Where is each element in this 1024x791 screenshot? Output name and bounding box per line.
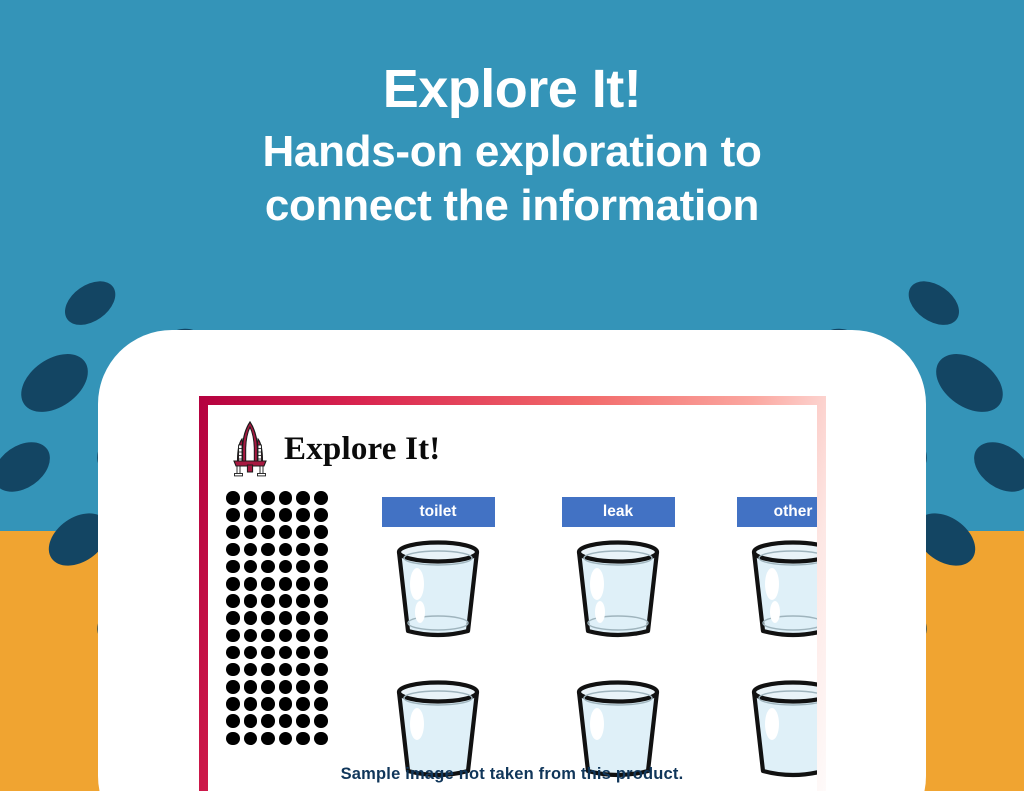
grid-dot xyxy=(296,629,310,643)
grid-dot xyxy=(244,508,258,522)
grid-dot xyxy=(314,663,328,677)
grid-dot xyxy=(244,714,258,728)
grid-dot xyxy=(279,714,293,728)
dot-grid xyxy=(226,491,338,791)
page-subtitle-line-1: Hands-on exploration to xyxy=(0,125,1024,179)
grid-dot xyxy=(279,646,293,660)
grid-dot xyxy=(226,663,240,677)
grid-dot xyxy=(279,525,293,539)
grid-dot xyxy=(261,714,275,728)
grid-dot xyxy=(314,629,328,643)
grid-dot xyxy=(261,732,275,746)
grid-dot xyxy=(314,594,328,608)
page-title: Explore It! xyxy=(0,62,1024,117)
grid-dot xyxy=(226,697,240,711)
worksheet-column-toilet: toilet xyxy=(353,497,523,779)
grid-dot xyxy=(314,680,328,694)
cup-row-2 xyxy=(353,679,523,779)
grid-dot xyxy=(279,732,293,746)
worksheet-column-other: other xyxy=(708,497,817,779)
disclaimer-caption: Sample image not taken from this product… xyxy=(0,765,1024,784)
grid-dot xyxy=(226,646,240,660)
grid-dot xyxy=(296,594,310,608)
grid-dot xyxy=(226,508,240,522)
grid-dot xyxy=(226,525,240,539)
grid-dot xyxy=(296,508,310,522)
cup-icon xyxy=(390,539,486,639)
grid-dot xyxy=(244,680,258,694)
grid-dot xyxy=(279,663,293,677)
cup-icon xyxy=(745,679,817,779)
worksheet-page: Explore It! toilet xyxy=(208,405,817,791)
grid-dot xyxy=(279,543,293,557)
grid-dot xyxy=(279,594,293,608)
grid-dot xyxy=(279,491,293,505)
grid-dot xyxy=(296,714,310,728)
grid-dot xyxy=(244,611,258,625)
grid-dot xyxy=(314,697,328,711)
worksheet-header: Explore It! xyxy=(230,421,441,477)
grid-dot xyxy=(261,491,275,505)
space-shuttle-icon xyxy=(230,421,270,477)
grid-dot xyxy=(261,508,275,522)
grid-dot xyxy=(296,525,310,539)
grid-dot xyxy=(226,714,240,728)
worksheet-gradient-frame: Explore It! toilet xyxy=(199,396,826,791)
grid-dot xyxy=(296,491,310,505)
tablet-screen: Explore It! toilet xyxy=(199,396,826,791)
grid-dot xyxy=(296,697,310,711)
grid-dot xyxy=(261,543,275,557)
grid-dot xyxy=(261,680,275,694)
grid-dot xyxy=(226,491,240,505)
grid-dot xyxy=(226,577,240,591)
grid-dot xyxy=(244,577,258,591)
grid-dot xyxy=(244,543,258,557)
grid-dot xyxy=(314,508,328,522)
grid-dot xyxy=(314,732,328,746)
grid-dot xyxy=(226,611,240,625)
grid-dot xyxy=(244,697,258,711)
grid-dot xyxy=(314,525,328,539)
grid-dot xyxy=(226,594,240,608)
cup-row-1 xyxy=(533,539,703,639)
grid-dot xyxy=(261,594,275,608)
cup-row-1 xyxy=(353,539,523,639)
grid-dot xyxy=(226,629,240,643)
grid-dot xyxy=(279,629,293,643)
grid-dot xyxy=(314,577,328,591)
grid-dot xyxy=(296,646,310,660)
tablet-device: Explore It! toilet xyxy=(98,330,926,791)
grid-dot xyxy=(279,611,293,625)
grid-dot xyxy=(261,697,275,711)
grid-dot xyxy=(314,646,328,660)
headline-block: Explore It! Hands-on exploration to conn… xyxy=(0,62,1024,232)
grid-dot xyxy=(261,560,275,574)
grid-dot xyxy=(296,663,310,677)
grid-dot xyxy=(314,491,328,505)
grid-dot xyxy=(226,543,240,557)
grid-dot xyxy=(296,680,310,694)
cup-row-2 xyxy=(708,679,817,779)
grid-dot xyxy=(279,577,293,591)
grid-dot xyxy=(296,560,310,574)
cup-row-2 xyxy=(533,679,703,779)
grid-dot xyxy=(279,508,293,522)
grid-dot xyxy=(314,714,328,728)
grid-dot xyxy=(296,732,310,746)
category-chip-leak[interactable]: leak xyxy=(562,497,675,527)
slide-canvas: Explore It! Hands-on exploration to conn… xyxy=(0,0,1024,791)
grid-dot xyxy=(261,629,275,643)
grid-dot xyxy=(226,732,240,746)
worksheet-column-leak: leak xyxy=(533,497,703,779)
cup-icon xyxy=(570,539,666,639)
grid-dot xyxy=(244,491,258,505)
grid-dot xyxy=(314,560,328,574)
cup-icon xyxy=(745,539,817,639)
grid-dot xyxy=(314,543,328,557)
grid-dot xyxy=(226,680,240,694)
grid-dot xyxy=(279,697,293,711)
cup-icon xyxy=(390,679,486,779)
grid-dot xyxy=(226,560,240,574)
grid-dot xyxy=(261,577,275,591)
grid-dot xyxy=(279,680,293,694)
worksheet-title: Explore It! xyxy=(284,433,441,466)
grid-dot xyxy=(244,560,258,574)
grid-dot xyxy=(279,560,293,574)
cup-row-1 xyxy=(708,539,817,639)
grid-dot xyxy=(296,611,310,625)
page-subtitle: Hands-on exploration to connect the info… xyxy=(0,125,1024,232)
grid-dot xyxy=(244,594,258,608)
grid-dot xyxy=(314,611,328,625)
grid-dot xyxy=(244,525,258,539)
grid-dot xyxy=(296,577,310,591)
category-chip-toilet[interactable]: toilet xyxy=(382,497,495,527)
grid-dot xyxy=(296,543,310,557)
grid-dot xyxy=(244,629,258,643)
cup-icon xyxy=(570,679,666,779)
grid-dot xyxy=(244,732,258,746)
page-subtitle-line-2: connect the information xyxy=(0,179,1024,233)
grid-dot xyxy=(244,663,258,677)
grid-dot xyxy=(261,646,275,660)
grid-dot xyxy=(261,663,275,677)
grid-dot xyxy=(244,646,258,660)
grid-dot xyxy=(261,525,275,539)
grid-dot xyxy=(261,611,275,625)
category-chip-other[interactable]: other xyxy=(737,497,818,527)
